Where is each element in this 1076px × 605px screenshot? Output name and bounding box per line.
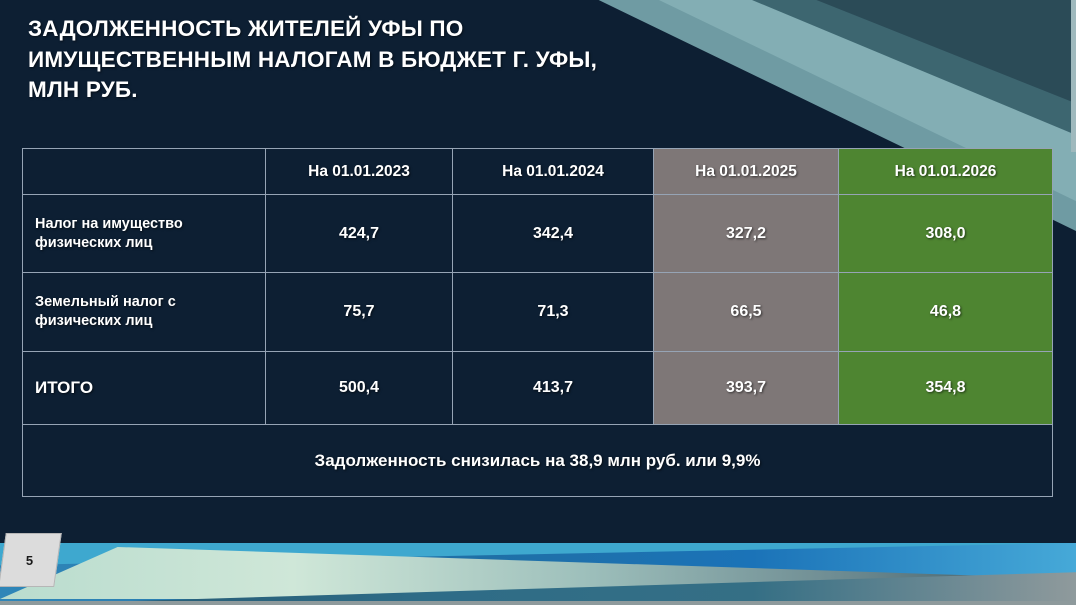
header-cell-2025: На 01.01.2025	[654, 149, 839, 195]
header-cell-2024: На 01.01.2024	[453, 149, 654, 195]
table-row: ИТОГО 500,4 413,7 393,7 354,8	[23, 352, 1053, 425]
page-title-line-1: ЗАДОЛЖЕННОСТЬ ЖИТЕЛЕЙ УФЫ ПО	[28, 14, 748, 45]
cell-total-2024: 413,7	[453, 352, 654, 425]
decor-bottom-band	[0, 543, 1076, 605]
cell-total-2026: 354,8	[839, 352, 1053, 425]
slide-number-badge: 5	[0, 533, 62, 587]
cell-land-2024: 71,3	[453, 273, 654, 352]
decor-right-edge-strip	[1071, 0, 1076, 152]
decor-bottom-dark-wedge	[0, 565, 1076, 605]
table-row: Налог на имущество физических лиц 424,7 …	[23, 195, 1053, 273]
header-cell-2026: На 01.01.2026	[839, 149, 1053, 195]
debt-table-container: На 01.01.2023 На 01.01.2024 На 01.01.202…	[22, 148, 1052, 497]
header-cell-2023: На 01.01.2023	[266, 149, 453, 195]
row-label-line-2: физических лиц	[35, 234, 265, 253]
cell-property-2023: 424,7	[266, 195, 453, 273]
row-label-line-1: Налог на имущество	[35, 215, 265, 234]
header-cell-blank	[23, 149, 266, 195]
decor-bottom-rule	[0, 601, 1076, 605]
slide-canvas: ЗАДОЛЖЕННОСТЬ ЖИТЕЛЕЙ УФЫ ПО ИМУЩЕСТВЕНН…	[0, 0, 1076, 605]
cell-total-2023: 500,4	[266, 352, 453, 425]
cell-property-2026: 308,0	[839, 195, 1053, 273]
decor-bottom-light-wedge	[0, 547, 980, 599]
row-label-total: ИТОГО	[23, 352, 266, 425]
row-label-land-tax: Земельный налог с физических лиц	[23, 273, 266, 352]
debt-table: На 01.01.2023 На 01.01.2024 На 01.01.202…	[22, 148, 1053, 497]
footer-note: Задолженность снизилась на 38,9 млн руб.…	[23, 425, 1053, 497]
page-title-line-2: ИМУЩЕСТВЕННЫМ НАЛОГАМ В БЮДЖЕТ Г. УФЫ,	[28, 45, 748, 76]
slide-number-label: 5	[26, 553, 33, 568]
cell-property-2024: 342,4	[453, 195, 654, 273]
table-header-row: На 01.01.2023 На 01.01.2024 На 01.01.202…	[23, 149, 1053, 195]
decor-bottom-blue-wedge	[0, 543, 1076, 605]
cell-land-2026: 46,8	[839, 273, 1053, 352]
row-label-property-tax: Налог на имущество физических лиц	[23, 195, 266, 273]
row-label-line-2: физических лиц	[35, 312, 265, 331]
cell-land-2025: 66,5	[654, 273, 839, 352]
page-title: ЗАДОЛЖЕННОСТЬ ЖИТЕЛЕЙ УФЫ ПО ИМУЩЕСТВЕНН…	[28, 14, 748, 106]
table-row: Земельный налог с физических лиц 75,7 71…	[23, 273, 1053, 352]
cell-total-2025: 393,7	[654, 352, 839, 425]
table-footer-row: Задолженность снизилась на 38,9 млн руб.…	[23, 425, 1053, 497]
page-title-line-3: МЛН РУБ.	[28, 75, 748, 106]
cell-land-2023: 75,7	[266, 273, 453, 352]
row-label-line-1: Земельный налог с	[35, 293, 265, 312]
cell-property-2025: 327,2	[654, 195, 839, 273]
